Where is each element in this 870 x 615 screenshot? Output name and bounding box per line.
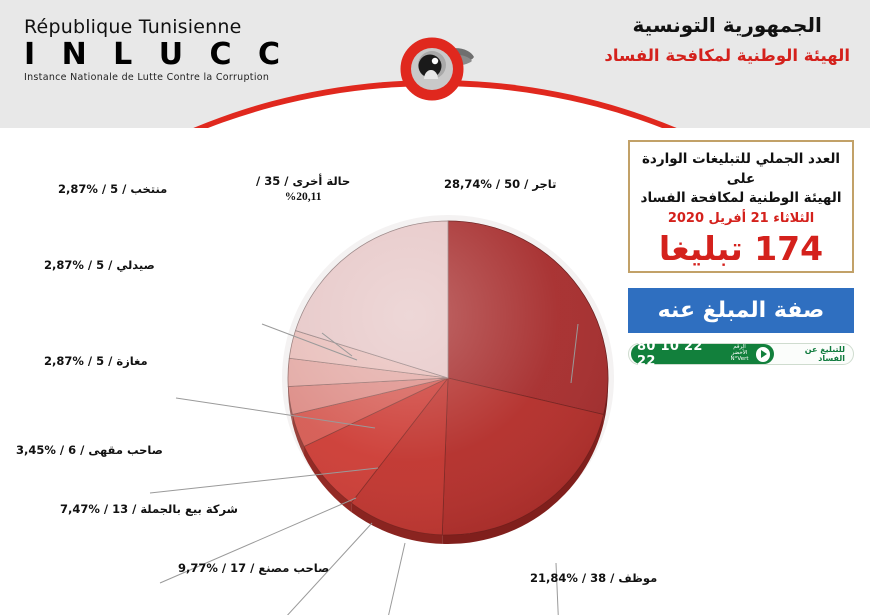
label-cafe-owner: صاحب مقهى / 6 / %3,45: [16, 443, 163, 457]
logo-arabic-republic: الجمهورية التونسية: [604, 14, 850, 37]
label-merchant: تاجر / 50 / %28,74: [444, 177, 556, 191]
eye-icon: [390, 33, 480, 105]
logo-arabic: الجمهورية التونسية الهيئة الوطنية لمكافح…: [604, 14, 850, 66]
logo-french-subtitle: Instance Nationale de Lutte Contre la Co…: [24, 73, 288, 83]
chart-title-banner: صفة المبلغ عنه: [628, 288, 854, 333]
play-icon: [756, 347, 770, 362]
label-wholesale-company: شركة بيع بالجملة / 13 / %7,47: [60, 502, 238, 516]
logo-french-line1: République Tunisienne: [24, 18, 288, 37]
hotline-strip[interactable]: للتبليغ عن الفساد 80 10 22 22 الرقم الأخ…: [628, 343, 854, 365]
logo-arabic-authority: الهيئة الوطنية لمكافحة الفساد: [604, 47, 850, 66]
report-date: الثلاثاء 21 أفريل 2020: [638, 211, 844, 226]
label-other-line1: حالة أخرى / 35 /: [256, 174, 350, 190]
infographic-root: République Tunisienne I N L U C C Instan…: [0, 0, 870, 615]
total-reports-line1: العدد الجملي للتبليغات الواردة على: [638, 150, 844, 189]
logo-french-acronym: I N L U C C: [24, 40, 288, 70]
hotline-number: 80 10 22 22: [637, 339, 722, 369]
label-pharmacist: صيدلي / 5 / %2,87: [44, 258, 155, 272]
hotline-vert-fr: N°Vert: [731, 356, 749, 362]
hotline-vert-label: الرقم الأخضر N°Vert: [725, 345, 754, 362]
hotline-caption: للتبليغ عن الفساد: [778, 345, 845, 363]
total-reports-line2: الهيئة الوطنية لمكافحة الفساد: [638, 189, 844, 209]
pie-slices: [288, 221, 608, 544]
chart-title-text: صفة المبلغ عنه: [658, 298, 825, 323]
total-reports-box: العدد الجملي للتبليغات الواردة على الهيئ…: [628, 140, 854, 273]
hotline-vert-ar: الرقم الأخضر: [732, 344, 748, 356]
label-employee: موظف / 38 / %21,84: [530, 571, 657, 585]
logo-french: République Tunisienne I N L U C C Instan…: [24, 18, 288, 83]
label-other: حالة أخرى / 35 / %20,11: [256, 174, 350, 205]
total-reports-count: 174 تبليغا: [638, 232, 844, 265]
label-grocery-store: مغازة / 5 / %2,87: [44, 354, 148, 368]
label-other-line2: %20,11: [256, 190, 350, 206]
hotline-pill: 80 10 22 22 الرقم الأخضر N°Vert: [631, 344, 774, 364]
label-factory-owner: صاحب مصنع / 17 / %9,77: [178, 561, 329, 575]
label-elected-official: منتخب / 5 / %2,87: [58, 182, 167, 196]
